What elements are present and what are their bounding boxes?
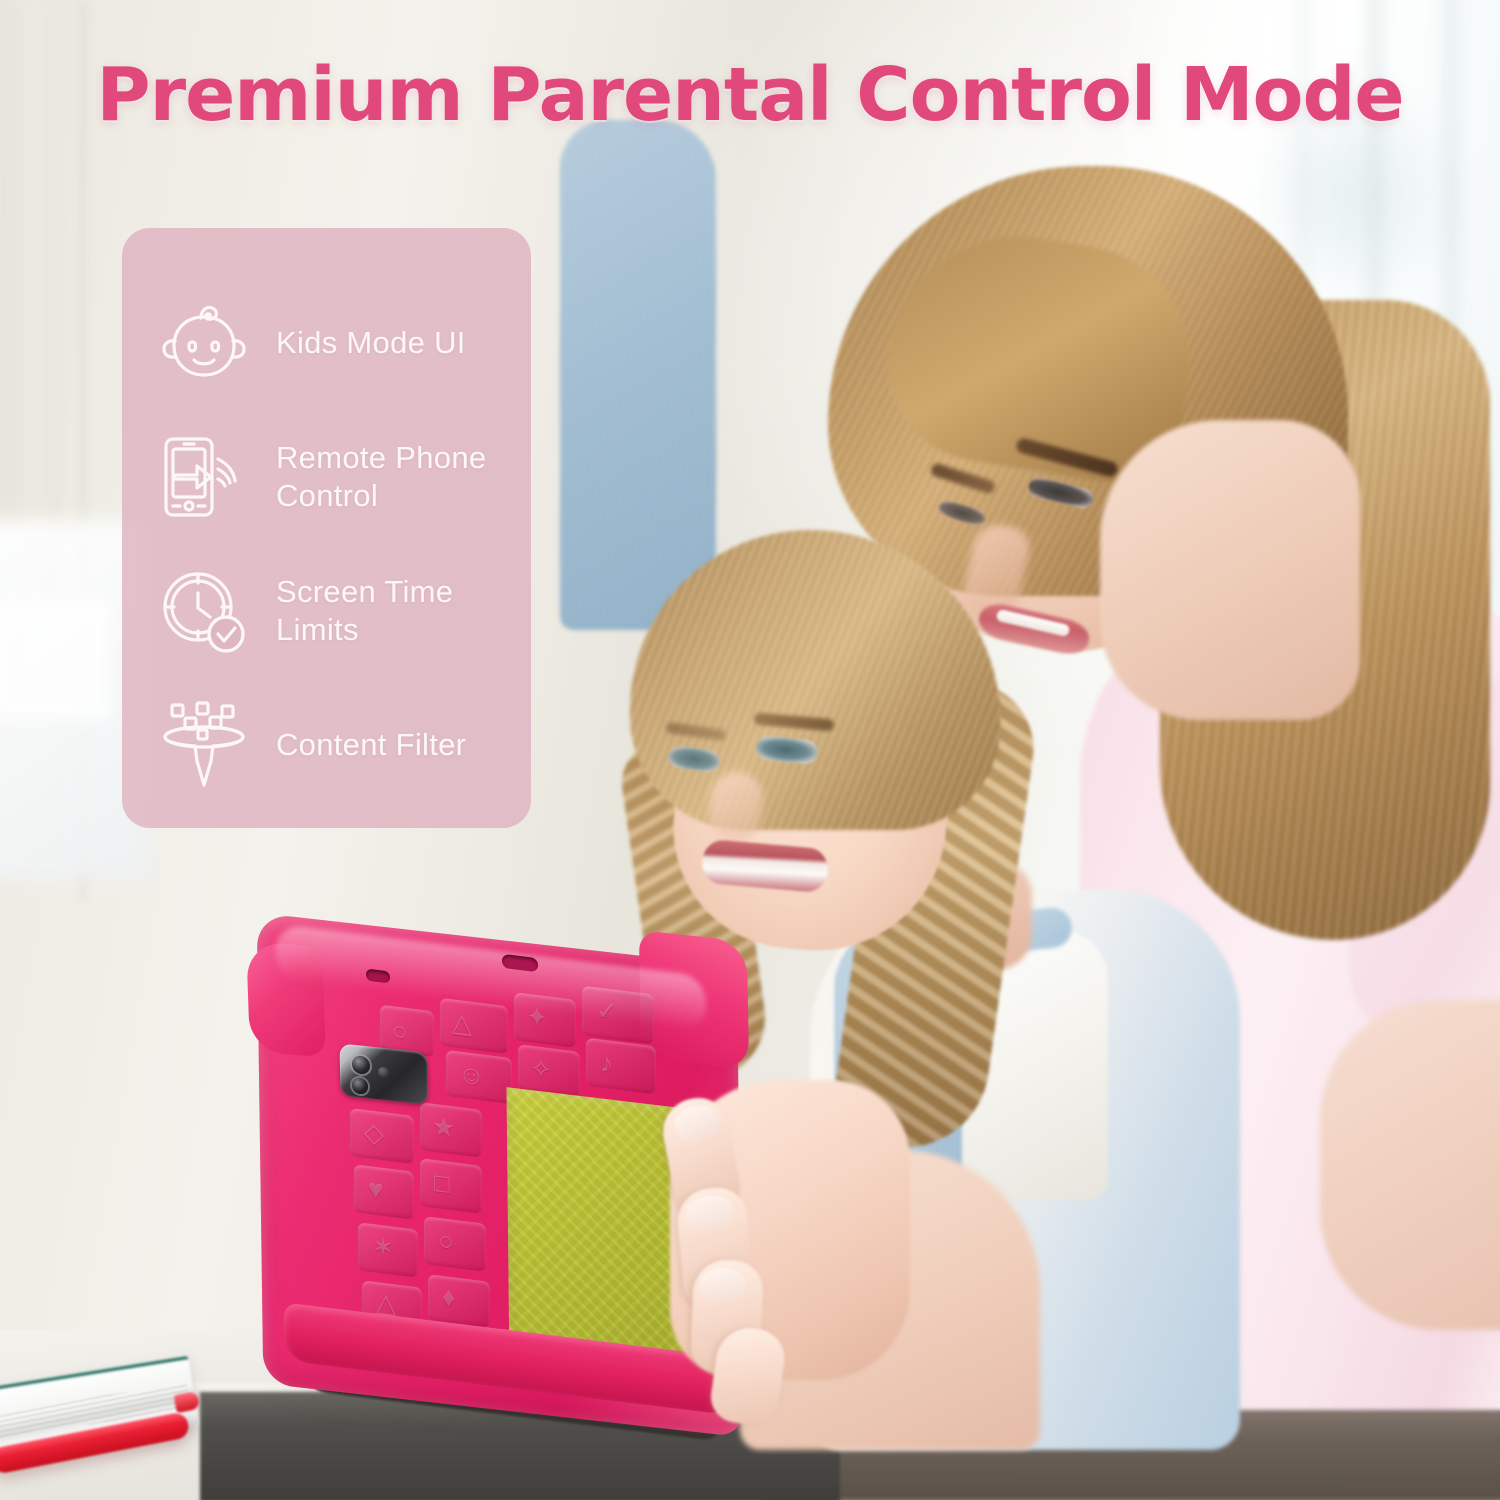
case-emboss-tile	[440, 998, 508, 1054]
clock-check-icon	[148, 555, 260, 667]
case-emboss-glyph: ★	[432, 1113, 455, 1142]
case-emboss-tile	[354, 1164, 414, 1219]
feature-label: Content Filter	[276, 726, 466, 764]
case-emboss-tile	[586, 1038, 656, 1095]
feature-list: Kids Mode UI	[122, 228, 531, 828]
case-emboss-tile	[424, 1216, 486, 1272]
mother-arm	[1320, 1000, 1500, 1330]
feature-item-content-filter: Content Filter	[122, 678, 531, 812]
case-emboss-glyph: ○	[438, 1227, 454, 1255]
funnel-filter-icon	[148, 689, 260, 801]
feature-label: Screen Time Limits	[276, 573, 506, 649]
feature-panel: Kids Mode UI	[122, 228, 531, 828]
camera-lens-icon	[378, 1066, 389, 1078]
baby-face-icon	[148, 287, 260, 399]
feature-label: Kids Mode UI	[276, 324, 466, 362]
case-emboss-glyph: ✓	[596, 997, 618, 1026]
feature-item-screen-time-limits: Screen Time Limits	[122, 544, 531, 678]
case-emboss-glyph: ♥	[368, 1175, 383, 1203]
case-emboss-glyph: ♪	[600, 1049, 613, 1077]
case-emboss-glyph: △	[376, 1289, 396, 1317]
left-window-highlight	[0, 600, 110, 720]
page-title: Premium Parental Control Mode	[0, 52, 1500, 138]
case-emboss-glyph: ✧	[530, 1055, 552, 1084]
girl-overalls	[560, 120, 716, 630]
case-emboss-glyph: ✦	[526, 1003, 548, 1032]
case-emboss-tile	[420, 1158, 482, 1214]
case-emboss-glyph: □	[434, 1169, 450, 1197]
product-marketing-image: ○ △ ✦ ✓ ☺ ✧ ♪ ◇ ★ ♥ □ ✶ ○ △ ♦ Premium Pa…	[0, 0, 1500, 1500]
mother-hand	[1100, 420, 1360, 720]
case-emboss-glyph: △	[452, 1009, 472, 1037]
fingernail	[699, 1267, 746, 1301]
case-emboss-glyph: ◇	[364, 1119, 384, 1147]
feature-item-kids-mode-ui: Kids Mode UI	[122, 276, 531, 410]
feature-item-remote-phone-control: Remote Phone Control	[122, 410, 531, 544]
case-emboss-glyph: ♦	[442, 1283, 455, 1311]
kids-tablet: ○ △ ✦ ✓ ☺ ✧ ♪ ◇ ★ ♥ □ ✶ ○ △ ♦	[240, 930, 880, 1430]
phone-remote-icon	[148, 421, 260, 533]
case-emboss-glyph: ○	[392, 1017, 408, 1045]
case-emboss-glyph: ☺	[458, 1060, 485, 1089]
case-emboss-tile	[428, 1274, 490, 1328]
case-emboss-tile	[582, 986, 654, 1045]
case-emboss-glyph: ✶	[372, 1233, 394, 1262]
feature-label: Remote Phone Control	[276, 439, 506, 515]
